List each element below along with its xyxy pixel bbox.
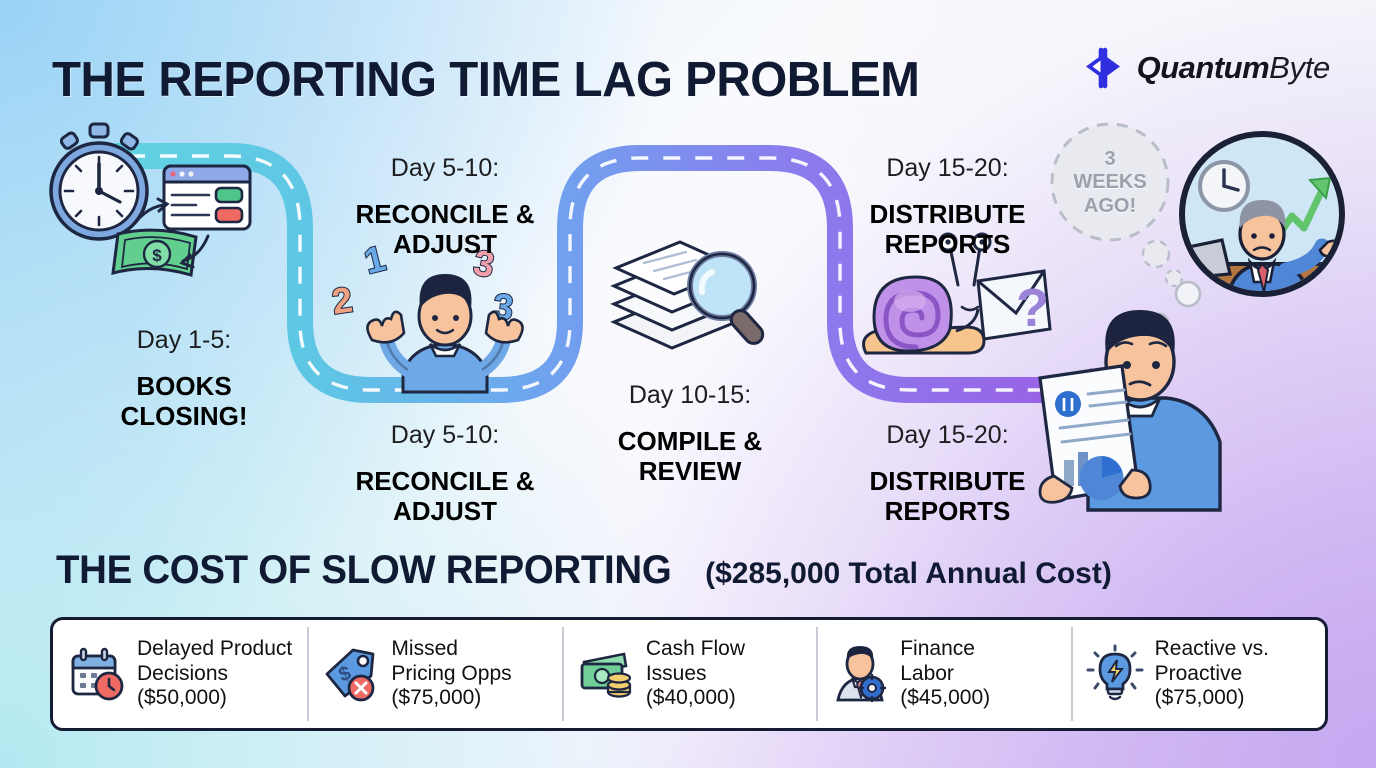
stage-2-day-bottom: Day 5-10: [320,421,570,449]
stage-label-distribute-top: Day 15-20: DISTRIBUTE REPORTS [840,136,1055,277]
stage-label-distribute-bottom: Day 15-20: DISTRIBUTE REPORTS [840,403,1055,544]
stage-label-reconcile-bottom: Day 5-10: RECONCILE & ADJUST [320,403,570,544]
cost-card-label: Reactive vs. Proactive ($75,000) [1155,637,1269,711]
cost-card-label: Cash Flow Issues ($40,000) [646,637,745,711]
stage-label-reconcile-top: Day 5-10: RECONCILE & ADJUST [320,136,570,277]
logo-name-bold: Quantum [1137,50,1270,85]
stage-label-compile: Day 10-15: COMPILE & REVIEW [570,363,810,504]
money-bill-icon: $ [113,230,196,275]
cost-section-heading: THE COST OF SLOW REPORTING($285,000 Tota… [56,548,1112,593]
stage-4-day-bottom: Day 15-20: [840,421,1055,449]
cost-card-delayed-product-decisions[interactable]: Delayed Product Decisions ($50,000) [53,620,307,728]
qb-logo-icon [1080,46,1126,90]
cost-card-finance-labor[interactable]: Finance Labor ($45,000) [816,620,1070,728]
stage-2-name-bottom: RECONCILE & ADJUST [320,467,570,526]
stage-3-day: Day 10-15: [570,381,810,409]
brand-logo: QuantumByte [1080,46,1330,90]
stage-2-name-top: RECONCILE & ADJUST [320,200,570,259]
stage-1-name: BOOKS CLOSING! [64,372,304,431]
cost-card-reactive-vs-proactive[interactable]: Reactive vs. Proactive ($75,000) [1071,620,1325,728]
svg-text:$: $ [152,246,162,265]
calendar-clock-icon [67,644,127,704]
cost-card-cash-flow-issues[interactable]: Cash Flow Issues ($40,000) [562,620,816,728]
stage-1-artwork: $ [46,118,296,318]
stage-3-artwork [600,230,800,370]
cost-card-label: Finance Labor ($45,000) [900,637,990,711]
stage-1-day: Day 1-5: [64,326,304,354]
stopwatch-icon [51,124,147,239]
lightbulb-bolt-icon [1085,644,1145,704]
question-mark-icon: ? [1016,278,1049,338]
page-header: THE REPORTING TIME LAG PROBLEM QuantumBy… [0,24,1376,102]
cash-coins-icon [576,644,636,704]
logo-name-light: Byte [1269,50,1330,85]
number-2-icon: 2 [329,279,355,322]
stage-label-books-closing: Day 1-5: BOOKS CLOSING! [64,308,304,449]
browser-window-icon [164,166,250,229]
stage-4-name-bottom: DISTRIBUTE REPORTS [840,467,1055,526]
stage-4-name-top: DISTRIBUTE REPORTS [840,200,1055,259]
thought-bubble-text: 3 WEEKS AGO! [1057,148,1163,218]
stage-3-name: COMPILE & REVIEW [570,427,810,486]
cost-card-label: Delayed Product Decisions ($50,000) [137,637,292,711]
cost-card-missed-pricing-opps[interactable]: $ Missed Pricing Opps ($75,000) [307,620,561,728]
logo-wordmark: QuantumByte [1137,50,1330,86]
cost-cards-container: Delayed Product Decisions ($50,000) $ Mi… [50,617,1328,731]
stage-4-day-top: Day 15-20: [840,154,1055,182]
stage-2-day-top: Day 5-10: [320,154,570,182]
finance-worker-icon [830,644,890,704]
cost-heading-main: THE COST OF SLOW REPORTING [56,548,671,593]
cost-heading-total: ($285,000 Total Annual Cost) [705,557,1112,590]
cost-card-label: Missed Pricing Opps ($75,000) [391,637,511,711]
price-tag-x-icon: $ [321,644,381,704]
